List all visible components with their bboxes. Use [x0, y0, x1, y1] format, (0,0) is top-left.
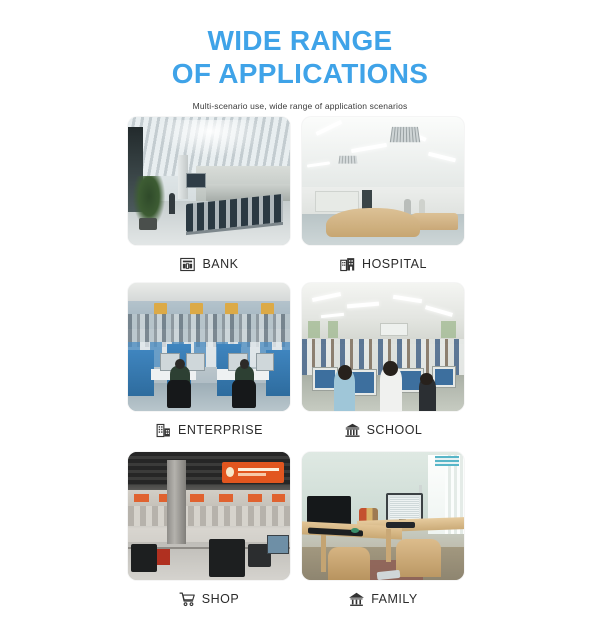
hospital-caption: HOSPITAL — [302, 245, 464, 283]
family-caption: FAMILY — [302, 580, 464, 618]
application-card-hospital[interactable]: HOSPITAL — [302, 112, 464, 283]
application-card-bank[interactable]: BANK — [128, 112, 290, 283]
hospital-building-icon — [339, 256, 356, 273]
page-header: WIDE RANGE OF APPLICATIONS Multi-scenari… — [0, 0, 600, 111]
hospital-reception-desk-photo — [302, 117, 464, 245]
enterprise-scene-art — [128, 283, 290, 411]
application-grid: BANK — [128, 112, 464, 618]
school-computer-lab-photo — [302, 283, 464, 411]
application-scenarios-page: WIDE RANGE OF APPLICATIONS Multi-scenari… — [0, 0, 600, 600]
page-title-line-2: OF APPLICATIONS — [0, 57, 600, 90]
application-card-family[interactable]: FAMILY — [302, 449, 464, 618]
hospital-label: HOSPITAL — [362, 257, 427, 271]
school-scene-art — [302, 283, 464, 411]
shopping-cart-icon — [179, 591, 196, 608]
page-title: WIDE RANGE OF APPLICATIONS — [0, 24, 600, 90]
school-caption: SCHOOL — [302, 411, 464, 449]
school-columns-icon — [344, 422, 361, 439]
school-label: SCHOOL — [367, 423, 423, 437]
page-title-line-1: WIDE RANGE — [0, 24, 600, 57]
page-subtitle: Multi-scenario use, wide range of applic… — [0, 101, 600, 111]
bank-label: BANK — [202, 257, 238, 271]
supermarket-checkout-photo — [128, 452, 290, 580]
office-building-icon — [155, 422, 172, 439]
enterprise-call-center-cubicles-photo — [128, 283, 290, 411]
bank-caption: BANK — [128, 245, 290, 283]
application-card-shop[interactable]: SHOP — [128, 449, 290, 618]
shop-caption: SHOP — [128, 580, 290, 618]
hospital-scene-art — [302, 117, 464, 245]
family-label: FAMILY — [371, 592, 418, 606]
shop-scene-art — [128, 452, 290, 580]
shop-label: SHOP — [202, 592, 239, 606]
bank-lobby-waiting-area-photo — [128, 117, 290, 245]
enterprise-caption: ENTERPRISE — [128, 411, 290, 449]
family-scene-art — [302, 452, 464, 580]
application-card-enterprise[interactable]: ENTERPRISE — [128, 283, 290, 449]
house-icon — [348, 591, 365, 608]
home-office-desk-photo — [302, 452, 464, 580]
enterprise-label: ENTERPRISE — [178, 423, 263, 437]
bank-building-icon — [179, 256, 196, 273]
bank-scene-art — [128, 117, 290, 245]
application-card-school[interactable]: SCHOOL — [302, 283, 464, 449]
